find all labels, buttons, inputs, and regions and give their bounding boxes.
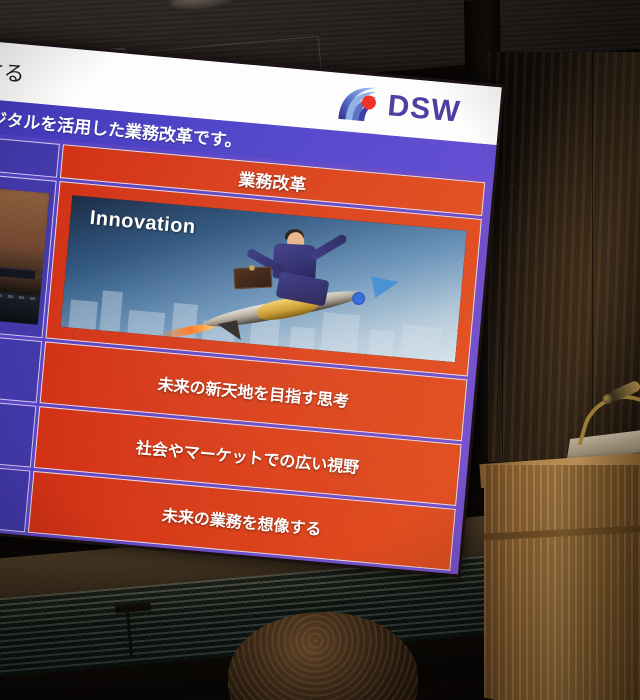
photo-scene: 務を改革する bbox=[0, 0, 640, 700]
comparison-table: 改善 業務改革 bbox=[0, 128, 485, 567]
miniature-scene bbox=[0, 179, 49, 324]
podium bbox=[484, 465, 640, 700]
projection-screen: 務を改革する bbox=[0, 29, 520, 584]
dsw-logo-text: DSW bbox=[386, 91, 461, 127]
building bbox=[100, 290, 123, 331]
miniature-workers-photo bbox=[0, 179, 49, 324]
slide-title: 務を改革する bbox=[0, 47, 26, 88]
presentation-slide: 務を改革する bbox=[0, 32, 502, 575]
innovation-rocket-photo: Innovation bbox=[60, 196, 467, 362]
briefcase bbox=[233, 267, 272, 289]
building bbox=[68, 299, 98, 329]
wall-seam bbox=[592, 52, 593, 462]
dsw-wave-logo-icon bbox=[336, 83, 383, 125]
rocket-nose-cone bbox=[370, 271, 400, 298]
circuit-board bbox=[0, 281, 40, 324]
photo-background-blur bbox=[0, 179, 49, 275]
building bbox=[400, 324, 442, 360]
screen-frame: 務を改革する bbox=[0, 29, 505, 578]
innovation-label: Innovation bbox=[89, 207, 197, 239]
building bbox=[368, 330, 394, 356]
dsw-logo: DSW bbox=[336, 81, 487, 136]
rocket-fin bbox=[217, 320, 240, 343]
building bbox=[127, 309, 165, 335]
podium-wood-grain bbox=[484, 465, 640, 700]
businessman-leg bbox=[275, 272, 329, 307]
innovation-scene: Innovation bbox=[60, 196, 467, 362]
businessman bbox=[239, 229, 362, 311]
